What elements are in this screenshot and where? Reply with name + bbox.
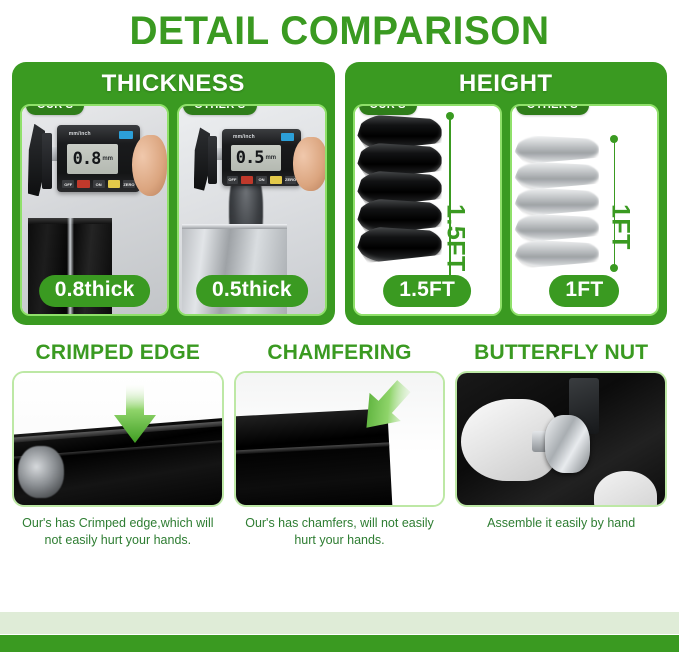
measure-label-ours: 1.5FT <box>441 204 470 272</box>
hand-holding-caliper <box>132 135 167 197</box>
digital-caliper-icon: mm/inch 0.8 mm OFF ON ZERO <box>28 121 162 200</box>
caliper-blue-tab <box>119 131 132 140</box>
feature-butterfly-nut: BUTTERFLY NUT Assemble it easily by hand <box>455 339 667 549</box>
caliper-unit-label: mm <box>102 156 113 162</box>
pill-label-thickness-others: 0.5thick <box>196 275 308 307</box>
arrow-down-icon <box>112 381 158 447</box>
measure-label-others: 1FT <box>605 204 634 250</box>
badge-others-thickness: OTHER'S <box>183 104 256 115</box>
butterfly-nut-photo <box>457 373 665 505</box>
footer-band-light <box>0 612 679 634</box>
black-edging-coil-icon <box>357 114 441 289</box>
panel-columns: 1.5FT OUR'S 1.5FT <box>353 104 660 316</box>
panel-title-height: HEIGHT <box>353 68 660 100</box>
caliper-on-button: ON <box>256 176 268 183</box>
pill-label-height-ours: 1.5FT <box>383 275 471 307</box>
badge-ours-thickness: OUR'S <box>26 104 84 115</box>
panel-title-thickness: THICKNESS <box>20 68 327 100</box>
caliper-lcd-screen: 0.5 mm <box>231 145 280 172</box>
caliper-brand-label: mm/inch <box>69 131 91 137</box>
feature-caption-butterfly-nut: Assemble it easily by hand <box>455 515 667 532</box>
caliper-reading-value: 0.5 <box>236 150 264 167</box>
chamfering-photo <box>236 373 444 505</box>
caliper-brand-label: mm/inch <box>233 134 255 140</box>
caliper-button-row: OFF ON ZERO <box>62 180 135 189</box>
features-row: CRIMPED EDGE Our's has Crimped <box>0 339 679 549</box>
caliper-zero-button: ZERO <box>123 180 135 189</box>
comparison-panel-thickness: THICKNESS mm/inch 0.8 mm <box>12 62 335 325</box>
gloved-hand-secondary <box>594 471 656 505</box>
feature-card-chamfering <box>234 371 446 507</box>
caliper-unit-label: mm <box>265 155 276 161</box>
page-title: DETAIL COMPARISON <box>10 0 669 58</box>
caliper-off-button: OFF <box>227 176 239 183</box>
feature-chamfering: CHAMFERING Our's <box>234 339 446 549</box>
caliper-blue-tab <box>281 133 294 140</box>
badge-others-height: OTHER'S <box>516 104 589 115</box>
badge-ours-height: OUR'S <box>359 104 417 115</box>
feature-title-butterfly-nut: BUTTERFLY NUT <box>455 339 667 367</box>
thickness-ours-card: mm/inch 0.8 mm OFF ON ZERO <box>20 104 169 316</box>
caliper-yellow-button <box>108 180 120 189</box>
height-measure-others: 1FT <box>608 139 657 268</box>
crimped-edge-photo <box>14 373 222 505</box>
caliper-button-row: OFF ON ZERO <box>227 176 297 183</box>
comparison-panels-row: THICKNESS mm/inch 0.8 mm <box>0 62 679 325</box>
pill-label-thickness-ours: 0.8thick <box>39 275 151 307</box>
panel-columns: mm/inch 0.8 mm OFF ON ZERO <box>20 104 327 316</box>
caliper-yellow-button <box>270 176 282 183</box>
feature-title-crimped-edge: CRIMPED EDGE <box>12 339 224 367</box>
height-measure-ours: 1.5FT <box>443 116 497 291</box>
feature-crimped-edge: CRIMPED EDGE Our's has Crimped <box>12 339 224 549</box>
feature-caption-crimped-edge: Our's has Crimped edge,which will not ea… <box>12 515 224 549</box>
caliper-reading-value: 0.8 <box>73 151 101 168</box>
hand-holding-caliper <box>293 137 324 191</box>
caliper-red-button <box>77 180 89 189</box>
comparison-panel-height: HEIGHT 1.5FT <box>345 62 668 325</box>
height-ours-card: 1.5FT OUR'S 1.5FT <box>353 104 502 316</box>
caliper-lcd-screen: 0.8 mm <box>67 144 118 175</box>
footer-band-green <box>0 635 679 652</box>
silver-edging-coil-icon <box>515 135 599 272</box>
arrow-down-left-icon <box>356 378 416 440</box>
bolt-hardware <box>18 446 64 499</box>
feature-card-crimped-edge <box>12 371 224 507</box>
feature-caption-chamfering: Our's has chamfers, will not easily hurt… <box>234 515 446 549</box>
height-others-card: 1FT OTHER'S 1FT <box>510 104 659 316</box>
thickness-others-card: mm/inch 0.5 mm OFF ON ZERO <box>177 104 326 316</box>
feature-card-butterfly-nut <box>455 371 667 507</box>
caliper-off-button: OFF <box>62 180 74 189</box>
butterfly-nut-icon <box>545 415 591 473</box>
caliper-on-button: ON <box>93 180 105 189</box>
pill-label-height-others: 1FT <box>549 275 619 307</box>
caliper-red-button <box>241 176 253 183</box>
feature-title-chamfering: CHAMFERING <box>234 339 446 367</box>
digital-caliper-icon: mm/inch 0.5 mm OFF ON ZERO <box>194 125 322 194</box>
